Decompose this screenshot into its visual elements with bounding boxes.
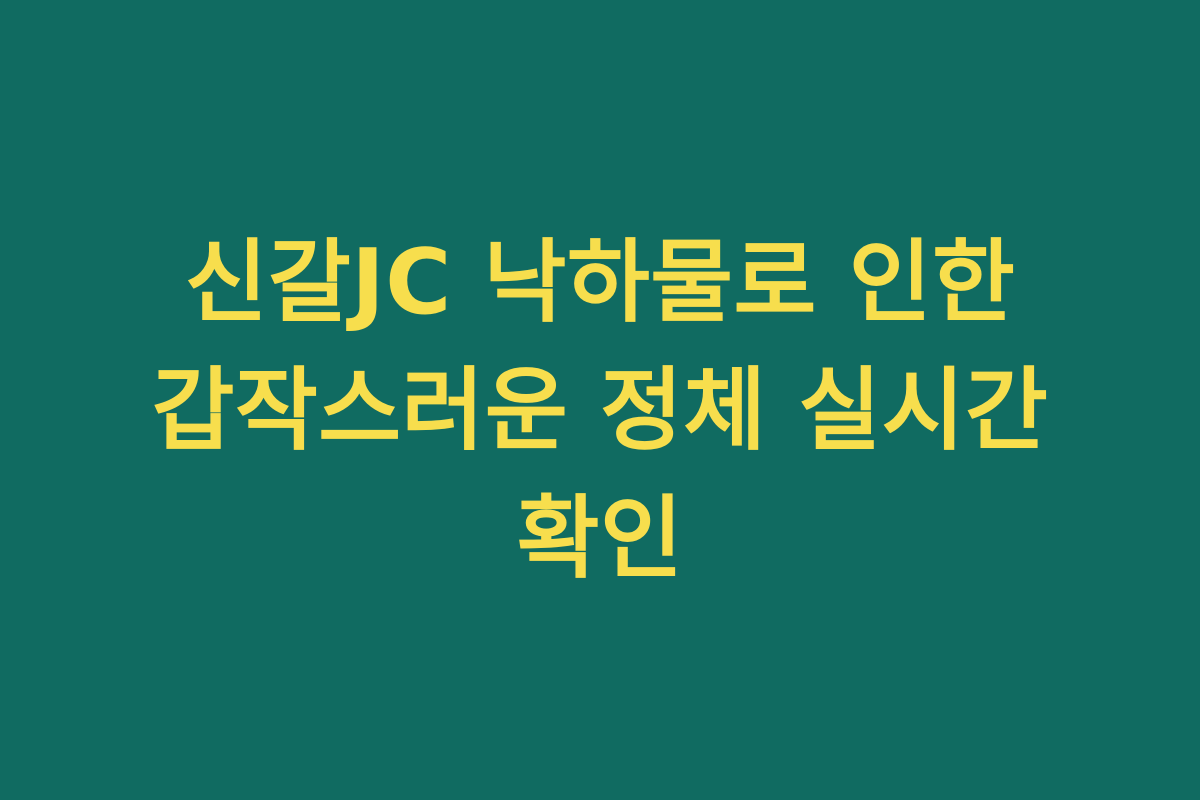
banner-card: 신갈JC 낙하물로 인한 갑작스러운 정체 실시간 확인: [0, 0, 1200, 800]
headline-line-3: 확인: [517, 475, 684, 603]
headline-text-block: 신갈JC 낙하물로 인한 갑작스러운 정체 실시간 확인: [70, 219, 1130, 602]
headline-line-1: 신갈JC 낙하물로 인한: [185, 219, 1016, 347]
headline-line-2: 갑작스러운 정체 실시간: [152, 347, 1049, 475]
